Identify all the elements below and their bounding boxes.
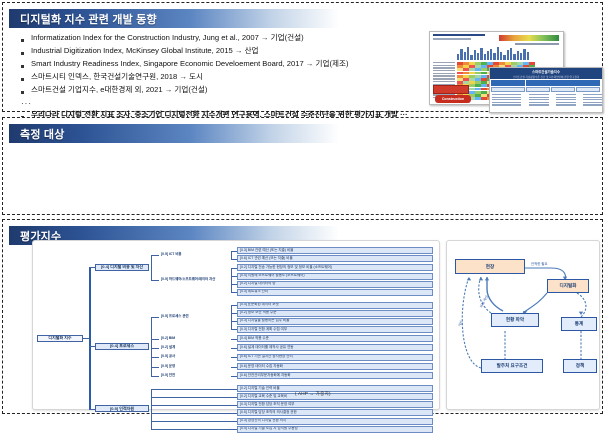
tree-connector xyxy=(151,317,159,318)
loop-node-policy[interactable]: 정책 xyxy=(563,359,597,373)
table-thumb-header-row xyxy=(491,80,601,86)
section-trends: 디지털화 지수 관련 개발 동향 Informatization Index f… xyxy=(2,2,603,112)
tree-group-node[interactable]: [0.5] 안전 xyxy=(159,372,229,379)
tree-connector xyxy=(231,292,237,293)
list-item: Smart Industry Readiness Index, Singapor… xyxy=(21,60,421,69)
tree-group-node[interactable]: [0.2] 설계 xyxy=(159,344,229,351)
list-item: 스마트시티 인덱스, 한국건설기술연구원, 2018 → 도시 xyxy=(21,73,421,82)
highlight-box xyxy=(433,85,469,94)
tree-connector xyxy=(151,376,159,377)
tree-leaf-node[interactable]: [0.3] BIM 관련 예산 (또는 지출) 비율 xyxy=(237,247,433,254)
tree-leaf-node[interactable]: [0.4] 표준화된 데이터 포맷 xyxy=(237,302,433,309)
tree-leaf-node[interactable]: [0.5] 디지털 담당 조직의 의사결정 권한 xyxy=(237,409,433,416)
tree-connector xyxy=(89,267,95,268)
table-thumb-subtitle: 스마트건설 기술활용수준 진단 및 지수화방안에 관한 연구결과 xyxy=(490,75,602,79)
construction-badge-label: Construction xyxy=(435,95,471,103)
tree-connector xyxy=(151,421,237,422)
table-report-thumbnail[interactable]: 스마트건설기술지수 스마트건설 기술활용수준 진단 및 지수화방안에 관한 연구… xyxy=(489,67,603,113)
table-thumb-header: 스마트건설기술지수 스마트건설 기술활용수준 진단 및 지수화방안에 관한 연구… xyxy=(490,68,602,79)
table-thumb-subheader-row xyxy=(491,87,601,92)
tree-leaf-node[interactable]: [0.2] 디지털 전송 가능한 현장의 정보 및 정보 비율 (소프트웨어) xyxy=(237,264,433,271)
bullet-square-icon xyxy=(21,52,24,55)
tree-leaf-node[interactable]: [0.3] 디지털 전환 담당 조직 운영 여부 xyxy=(237,401,433,408)
tree-leaf-node[interactable]: [0.3] 디지털을 활용하는 업무 비율 xyxy=(237,318,433,325)
tree-group-node[interactable]: [0.5] 프로세스 관련 xyxy=(159,314,229,321)
evaluation-index-tree: [0.3] BIM 관련 예산 (또는 지출) 비율[0.6] ICT 관련 예… xyxy=(33,241,439,409)
bullet-square-icon xyxy=(21,39,24,42)
bullet-square-icon xyxy=(21,91,24,94)
tree-branch-node[interactable]: [0.4] 디지털 비용 및 자산 xyxy=(95,264,149,271)
tree-group-node[interactable]: [0.5] 공사 xyxy=(159,354,229,361)
tree-branch-node[interactable]: [0.4] 프로세스 xyxy=(95,343,149,350)
bullet-square-icon xyxy=(21,78,24,81)
section-title-target: 측정 대상 xyxy=(20,126,65,142)
bullet-text: 스마트시티 인덱스, 한국건설기술연구원, 2018 → 도시 xyxy=(31,73,203,82)
section-header-trends: 디지털화 지수 관련 개발 동향 xyxy=(9,9,339,28)
tree-connector xyxy=(89,409,95,410)
ahp-weight-note: ( AHP → 가중치) xyxy=(295,391,331,397)
loop-node-digital[interactable]: 디지털화 xyxy=(547,279,589,293)
tree-connector xyxy=(231,367,237,368)
color-legend-icon xyxy=(499,35,559,41)
tree-connector xyxy=(231,251,237,252)
tree-leaf-node[interactable]: [0.6] 설계 데이터를 제작사 공유 연동 xyxy=(237,344,433,351)
tree-group-node[interactable]: [0.5] 운영 xyxy=(159,363,229,370)
tree-connector xyxy=(231,305,237,306)
tree-connector xyxy=(231,284,237,285)
tree-connector xyxy=(231,357,237,358)
tree-branch-node[interactable]: [0.5] 인적자원 xyxy=(95,405,149,412)
loop-edge-label-necessity: 안적한 필요 xyxy=(531,261,548,266)
tree-connector xyxy=(231,251,232,259)
thumb-title-bar xyxy=(433,34,485,36)
bullet-square-icon xyxy=(21,65,24,68)
tree-leaf-node[interactable]: [0.6] 운영 데이터 수집 자동화 xyxy=(237,363,433,370)
loop-node-requirement[interactable]: 발주처 요구조건 xyxy=(481,359,543,373)
trend-bullet-list: Informatization Index for the Constructi… xyxy=(21,34,421,124)
tree-leaf-node[interactable]: [0.2] 정보 보안 적용 수준 xyxy=(237,310,433,317)
tree-leaf-node[interactable]: [0.6] ICT 관련 예산 (또는 지출) 비율 xyxy=(237,255,433,262)
section-title-trends: 디지털화 지수 관련 개발 동향 xyxy=(20,11,157,27)
tree-connector xyxy=(151,357,159,358)
tree-connector xyxy=(231,268,232,292)
tree-connector xyxy=(151,397,237,398)
tree-leaf-node[interactable]: [0.3] 디지털 전환 계획 수립 여부 xyxy=(237,326,433,333)
list-item: Informatization Index for the Constructi… xyxy=(21,34,421,43)
ellipsis-text: ··· xyxy=(21,99,421,108)
loop-node-site[interactable]: 현장 xyxy=(455,259,525,274)
tree-group-node[interactable]: [0.5] ICT 비용 xyxy=(159,251,229,258)
thumbnail-group: Construction 스마트건설기술지수 스마트건설 기술활용수준 진단 및… xyxy=(427,31,603,111)
table-thumb-title: 스마트건설기술지수 xyxy=(490,68,602,75)
tree-connector xyxy=(151,367,159,368)
table-thumb-body xyxy=(491,93,601,111)
tree-connector xyxy=(83,338,89,339)
tree-connector xyxy=(231,321,237,322)
construction-badge: Construction xyxy=(435,95,471,103)
tree-connector xyxy=(151,255,159,256)
bullet-text: Informatization Index for the Constructi… xyxy=(31,34,304,43)
tree-group-node[interactable]: [0.2] BIM xyxy=(159,335,229,342)
list-item: Industrial Digitization Index, McKinsey … xyxy=(21,47,421,56)
tree-root-node[interactable]: 디지털화 지수 xyxy=(37,335,83,342)
section-target: 측정 대상 국내 국가 단위 건설 산업 단위 시공사 기업 단위 xyxy=(2,117,603,215)
thumb-subtitle-bar xyxy=(433,38,471,40)
tree-connector xyxy=(151,389,152,430)
tree-leaf-node[interactable]: [0.4] 지원에 소프트웨어 활용도 (소프트웨어) xyxy=(237,273,433,280)
tree-connector xyxy=(231,305,232,329)
tree-connector xyxy=(231,329,237,330)
slide: 디지털화 지수 관련 개발 동향 Informatization Index f… xyxy=(0,0,605,416)
list-item: 스마트건설 기업지수, e대한경제 외, 2021 → 기업(건설) xyxy=(21,86,421,95)
tree-leaf-node[interactable]: [0.6] ICT 기반 실시간 공사현장 관리 xyxy=(237,354,433,361)
tree-connector xyxy=(151,429,237,430)
tree-group-node[interactable]: [0.5] 하드웨어/소프트웨어/데이터 자산 xyxy=(159,277,229,284)
tree-leaf-node[interactable]: [0.2] 디지털 데이터의 양 xyxy=(237,281,433,288)
loop-node-stats[interactable]: 통계 xyxy=(561,317,597,331)
tree-leaf-node[interactable]: [0.4] BIM 적용 수준 xyxy=(237,335,433,342)
bar-chart xyxy=(457,46,529,60)
causal-loop-diagram: 현장 디지털화 현황 파악 통계 발주처 요구조건 정책 안적한 필요 자체 개… xyxy=(447,241,599,409)
evaluation-index-tree-card: [0.3] BIM 관련 예산 (또는 지출) 비율[0.6] ICT 관련 예… xyxy=(32,240,440,410)
tree-connector xyxy=(151,389,237,390)
bullet-text: Smart Industry Readiness Index, Singapor… xyxy=(31,60,349,69)
tree-connector xyxy=(231,276,237,277)
tree-connector xyxy=(231,376,237,377)
tree-connector xyxy=(151,339,159,340)
tree-connector xyxy=(231,268,237,269)
tree-connector xyxy=(231,259,237,260)
tree-leaf-node[interactable]: [0.6] 안전관리부문자동화에 자동화 xyxy=(237,372,433,379)
bullet-text: Industrial Digitization Index, McKinsey … xyxy=(31,47,259,56)
section-header-target: 측정 대상 xyxy=(9,124,339,143)
loop-node-status[interactable]: 현황 파악 xyxy=(491,313,539,327)
tree-connector xyxy=(151,348,159,349)
tree-leaf-node[interactable]: [0.2] 디지털 교육 수준 및 교육비 xyxy=(237,393,433,400)
tree-connector xyxy=(89,346,95,347)
tree-connector xyxy=(231,339,237,340)
tree-connector xyxy=(151,280,159,281)
tree-leaf-node[interactable]: [0.3] 네트워크 관리 xyxy=(237,289,433,296)
tree-connector xyxy=(231,313,237,314)
tree-connector xyxy=(151,405,237,406)
tree-leaf-node[interactable]: [0.2] 디지털 기술 인력 비율 xyxy=(237,385,433,392)
tree-leaf-node[interactable]: [0.4] 디지털 기술 도입 시 임직원 수용성 xyxy=(237,426,433,433)
bullet-text: 스마트건설 기업지수, e대한경제 외, 2021 → 기업(건설) xyxy=(31,86,207,95)
tree-spine xyxy=(89,267,91,409)
causal-loop-card: 현장 디지털화 현황 파악 통계 발주처 요구조건 정책 안적한 필요 자체 개… xyxy=(446,240,600,410)
tree-connector xyxy=(151,255,152,281)
tree-leaf-node[interactable]: [0.3] 경영진의 디지털 전환 의지 xyxy=(237,418,433,425)
legend-caption-bar xyxy=(515,43,559,45)
tree-connector xyxy=(231,348,237,349)
tree-connector xyxy=(151,413,237,414)
